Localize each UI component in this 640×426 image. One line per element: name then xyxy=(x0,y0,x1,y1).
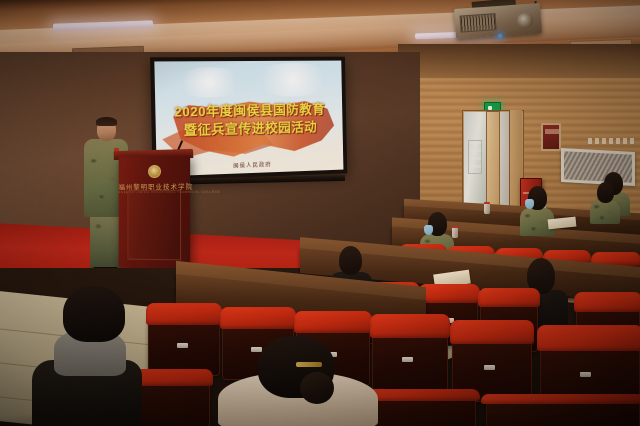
seat-number-plate xyxy=(177,343,188,348)
attendee-head xyxy=(597,182,614,203)
ceiling-projector xyxy=(454,3,542,39)
door-leaf-2[interactable] xyxy=(500,112,509,207)
seat-cushion xyxy=(478,288,539,307)
water-bottle-1 xyxy=(484,202,490,214)
speaker-legs xyxy=(90,214,122,270)
seat-cushion xyxy=(450,320,535,344)
seat-number-plate xyxy=(484,365,495,370)
door-leaf-1[interactable] xyxy=(486,111,500,209)
wood-wall-upper-shadow xyxy=(398,44,640,78)
seat-cushion xyxy=(220,307,296,329)
seat[interactable] xyxy=(486,398,640,426)
seat-cushion xyxy=(146,303,222,325)
seat-number-plate xyxy=(402,357,413,362)
seat[interactable] xyxy=(148,312,220,376)
attendee-fur-collar-hair-bun xyxy=(300,372,334,404)
projector-lens-icon xyxy=(517,13,534,29)
podium-front-panel xyxy=(127,190,181,261)
slide-cloud-2 xyxy=(251,63,334,97)
seat-cushion xyxy=(574,292,640,312)
seat-cushion xyxy=(294,311,372,333)
seat-cushion xyxy=(481,394,640,405)
seat-number-plate xyxy=(580,372,591,377)
college-emblem-icon xyxy=(148,165,161,178)
speaker-hair xyxy=(96,117,117,126)
seat-cushion xyxy=(537,325,640,351)
slide-cloud-1 xyxy=(173,67,244,98)
face-mask-icon xyxy=(424,225,433,235)
projector-vent-icon xyxy=(460,13,497,32)
seat-cushion xyxy=(418,284,479,302)
wall-notice-box xyxy=(541,123,561,151)
water-bottle-3 xyxy=(452,226,458,238)
wall-small-fixtures xyxy=(588,138,634,144)
face-mask-icon xyxy=(525,199,534,209)
attendee-head xyxy=(339,246,362,275)
attendee-grey-hoodie-foreground-head xyxy=(63,286,125,342)
seat-cushion xyxy=(370,314,451,337)
seat-number-plate xyxy=(251,347,262,352)
attendee-torso xyxy=(590,200,620,224)
auditorium-scene: 2020年度闽侯县国防教育 暨征兵宣传进校园活动 闽侯人民政府 二〇二〇年十二月… xyxy=(0,0,640,426)
corridor-railing xyxy=(468,140,482,174)
podium-lectern: 福州黎明职业技术学院 FUZHOU LIMING VOCATIONAL TECH… xyxy=(119,155,190,268)
attendee-camouflage-right xyxy=(590,182,620,222)
seat[interactable] xyxy=(372,324,448,392)
hair-clip-icon xyxy=(296,362,322,367)
